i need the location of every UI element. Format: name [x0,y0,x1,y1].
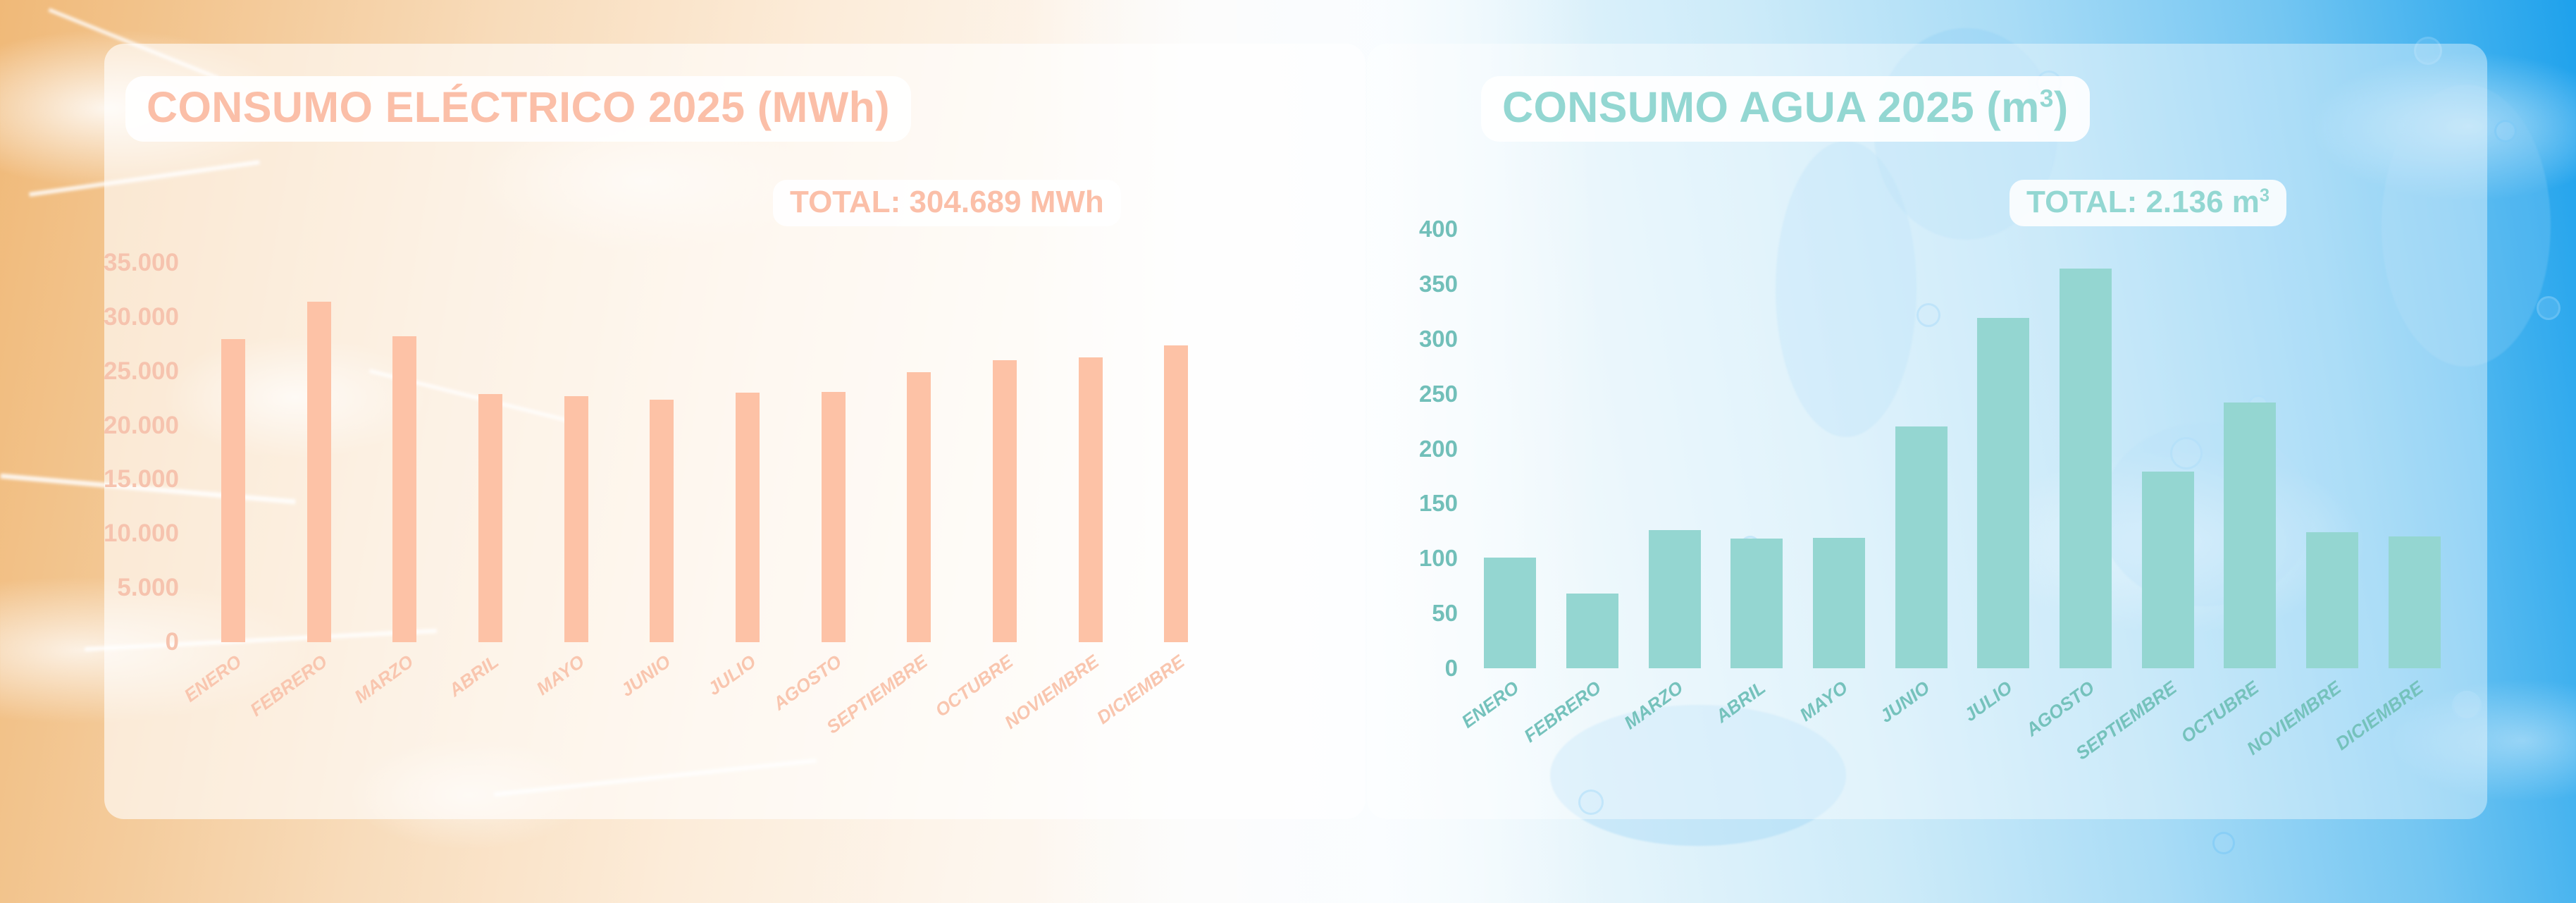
water-bubble [2212,832,2235,854]
water-chart-panel [1367,44,2487,819]
water-bubble [2537,296,2560,320]
electric-chart-panel [104,44,1366,819]
water-bubble [2494,120,2517,142]
